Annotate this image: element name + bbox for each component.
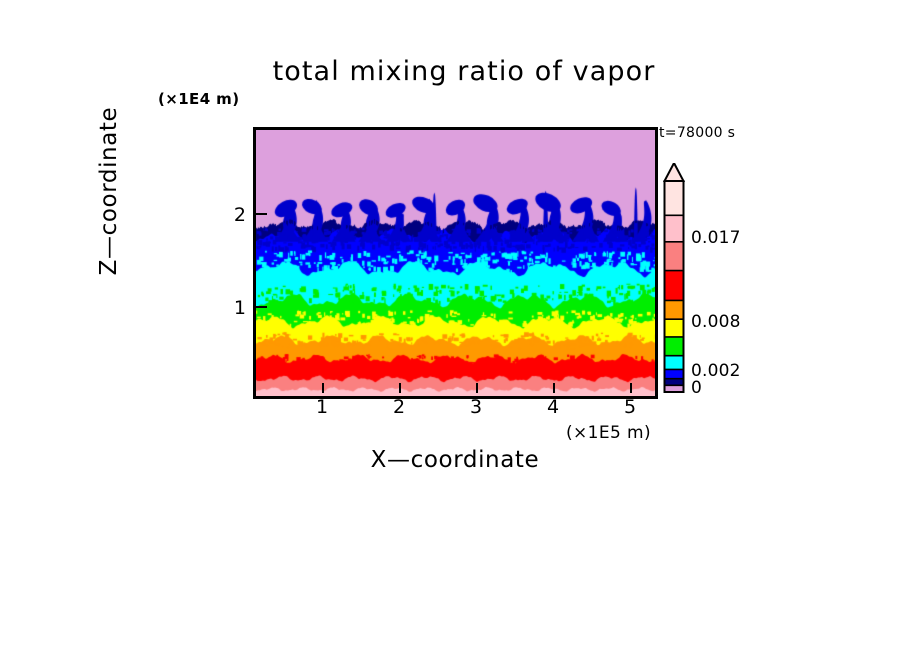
x-tick-label-1: 1 [307, 396, 337, 418]
x-tick-label-4: 4 [538, 396, 568, 418]
x-tick-1 [322, 383, 324, 393]
y-tick-label-2: 2 [222, 204, 246, 226]
page-title: total mixing ratio of vapor [244, 56, 684, 87]
contour-plot-area [253, 127, 658, 399]
colorbar [663, 163, 685, 393]
y-tick-label-1: 1 [222, 297, 246, 319]
x-tick-5 [630, 383, 632, 393]
y-tick-2 [256, 213, 267, 215]
y-tick-1 [256, 306, 267, 308]
x-tick-4 [553, 383, 555, 393]
x-tick-3 [476, 383, 478, 393]
x-tick-label-3: 3 [461, 396, 491, 418]
contour-field [256, 130, 655, 396]
timestamp-annotation: t=78000 s [659, 125, 735, 141]
x-axis-title: X—coordinate [330, 447, 580, 473]
colorbar-graphic [663, 163, 685, 393]
x-tick-label-2: 2 [384, 396, 414, 418]
colorbar-label-0: 0.017 [691, 228, 741, 248]
y-axis-unit-label: (×1E4 m) [158, 90, 239, 108]
colorbar-label-3: 0 [691, 378, 702, 398]
colorbar-label-1: 0.008 [691, 312, 741, 332]
y-axis-title: Z—coordinate [96, 76, 122, 306]
x-tick-label-5: 5 [615, 396, 645, 418]
x-axis-unit-label: (×1E5 m) [566, 423, 651, 443]
figure-canvas: total mixing ratio of vapor (×1E4 m) t=7… [0, 0, 904, 654]
x-tick-2 [399, 383, 401, 393]
